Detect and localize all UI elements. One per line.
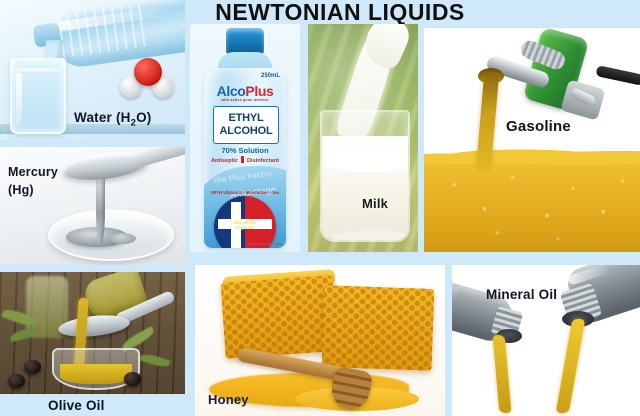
honeycomb-icon: [322, 285, 435, 371]
usage-claims: AntisepticDisinfectant: [204, 156, 286, 164]
bowl-oil: [60, 364, 132, 384]
olive-fruit: [8, 374, 25, 388]
drinking-glass-icon: [320, 110, 410, 242]
oil-stream-left: [493, 335, 512, 414]
oil-stream-right: [556, 319, 586, 413]
spoon-handle: [131, 147, 185, 169]
drinking-glass-icon: [10, 58, 66, 134]
label-mercury-line1: Mercury: [8, 165, 58, 179]
fuel-hose: [595, 65, 640, 86]
olive-fruit: [24, 360, 41, 374]
water-surface: [14, 68, 62, 74]
panel-gasoline: [424, 28, 640, 252]
milk-splash: [320, 146, 410, 172]
label-olive-oil: Olive Oil: [48, 398, 105, 413]
seal-claim-text: kills 99.9% of germs: [218, 220, 272, 231]
brand-logo: AlcoPlus: [204, 83, 286, 99]
solution-strength: 70% Solution: [204, 146, 286, 155]
mercury-stream: [96, 173, 105, 245]
fuel-bubbles: [424, 156, 640, 252]
glass-base: [332, 231, 410, 242]
alcohol-bottle-body: 250mL AlcoPlus with active germ defense …: [204, 68, 286, 248]
label-mineral-oil: Mineral Oil: [486, 287, 557, 302]
label-mercury-line2: (Hg): [8, 183, 34, 197]
brand-name-first: Alco: [217, 83, 246, 99]
page-title: NEWTONIAN LIQUIDS: [190, 0, 490, 26]
panel-milk: [308, 24, 418, 252]
label-gasoline: Gasoline: [506, 118, 571, 135]
panel-olive-oil: [0, 272, 185, 394]
mercury-droplet: [110, 233, 136, 244]
h2o-molecule-icon: [118, 58, 174, 102]
product-name-line1: ETHYL: [228, 112, 263, 125]
label-honey: Honey: [208, 392, 249, 407]
honeycomb-icon: [220, 275, 337, 359]
label-milk: Milk: [362, 196, 388, 211]
bottle-footnote: For External Use Only: [247, 242, 282, 246]
seal-claim-line2: of germs: [218, 225, 272, 230]
oxygen-atom: [134, 58, 162, 86]
label-water: Water (H2O): [74, 110, 152, 129]
milk-fill: [322, 136, 408, 240]
divider: [241, 156, 244, 163]
fuel-pool: [424, 156, 640, 252]
brand-name-second: Plus: [245, 83, 273, 99]
product-name-box: ETHYL ALCOHOL: [213, 106, 279, 144]
bottle-volume: 250mL: [261, 73, 280, 79]
claim-disinfectant: Disinfectant: [247, 158, 279, 164]
panel-ethyl-alcohol: 250mL AlcoPlus with active germ defense …: [190, 24, 300, 252]
brand-tagline: with active germ defense: [204, 98, 286, 102]
poster-canvas: NEWTONIAN LIQUIDS Water (H2O) Mercury (H…: [0, 0, 640, 416]
claim-antiseptic: Antiseptic: [211, 158, 238, 164]
bottle-highlight: [452, 279, 462, 299]
bottle-cap-icon: [226, 28, 264, 54]
olive-fruit: [124, 372, 141, 386]
product-name-line2: ALCOHOL: [220, 125, 273, 138]
panel-mercury: Mercury (Hg): [0, 147, 185, 265]
